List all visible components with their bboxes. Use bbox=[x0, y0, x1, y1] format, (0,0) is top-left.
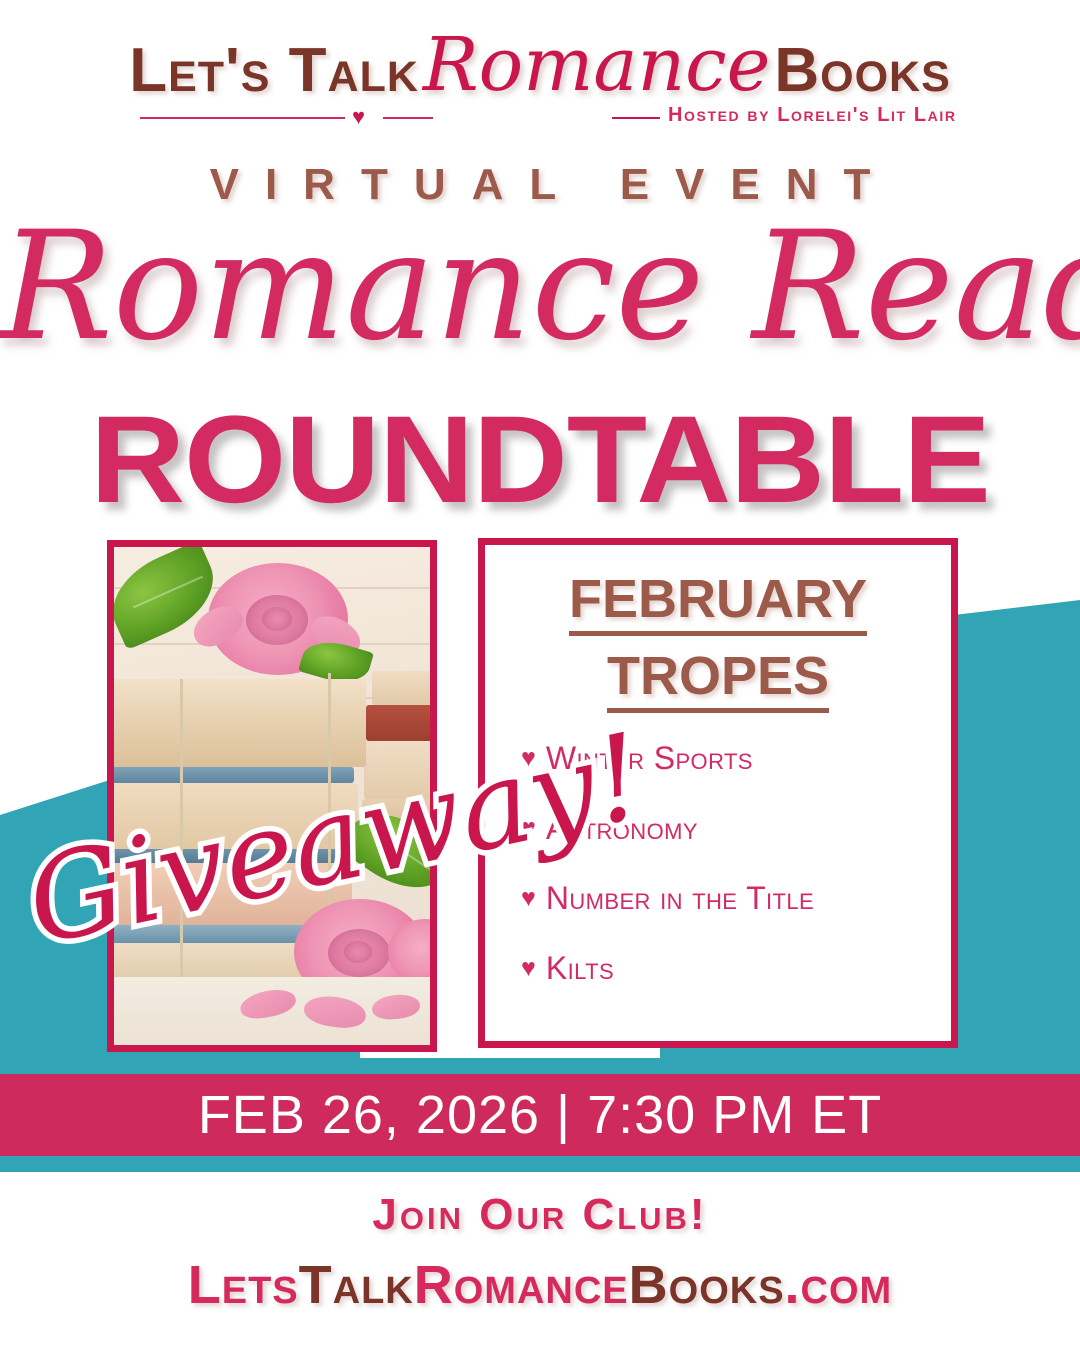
logo-books: Books bbox=[774, 36, 950, 105]
event-datetime-text: FEB 26, 2026 | 7:30 PM ET bbox=[198, 1084, 882, 1146]
tropes-heading-line1: FEBRUARY bbox=[569, 569, 867, 636]
url-part-talk: Talk bbox=[299, 1255, 414, 1315]
list-item: ♥ Number in the Title bbox=[521, 880, 951, 917]
footer: Join Our Club! LetsTalkRomanceBooks.com bbox=[0, 1190, 1080, 1316]
url-part-lets: Lets bbox=[188, 1255, 299, 1315]
heart-icon: ♥ bbox=[352, 106, 365, 128]
list-item: ♥ Kilts bbox=[521, 950, 951, 987]
trope-label: Number in the Title bbox=[546, 880, 814, 917]
tropes-heading: FEBRUARY TROPES bbox=[485, 545, 951, 714]
divider-rule-short bbox=[383, 117, 433, 119]
page-title: ROUNDTABLE bbox=[0, 398, 1080, 522]
url-part-romance: Romance bbox=[414, 1255, 629, 1315]
trope-label: Kilts bbox=[546, 950, 614, 987]
logo-lets-talk: Let's Talk bbox=[129, 36, 419, 105]
logo-divider: ♥ Hosted by Lorelei's Lit Lair bbox=[0, 104, 1080, 130]
hosted-by-text: Hosted by Lorelei's Lit Lair bbox=[668, 104, 957, 127]
logo-romance-script: Romance bbox=[423, 22, 770, 108]
website-url[interactable]: LetsTalkRomanceBooks.com bbox=[0, 1254, 1080, 1316]
event-flyer: Let's TalkRomanceBooks ♥ Hosted by Lorel… bbox=[0, 0, 1080, 1350]
tropes-heading-line2: TROPES bbox=[607, 646, 829, 713]
url-part-books: Books bbox=[629, 1255, 785, 1315]
teal-strip-top bbox=[0, 1058, 1080, 1074]
url-part-tld: .com bbox=[785, 1255, 893, 1315]
divider-rule-right bbox=[612, 117, 660, 119]
event-datetime-banner: FEB 26, 2026 | 7:30 PM ET bbox=[0, 1074, 1080, 1156]
teal-strip-bottom bbox=[0, 1156, 1080, 1172]
divider-rule-long bbox=[140, 117, 345, 119]
heart-bullet-icon: ♥ bbox=[521, 956, 536, 981]
join-club-cta: Join Our Club! bbox=[0, 1190, 1080, 1240]
brand-logo: Let's TalkRomanceBooks ♥ Hosted by Lorel… bbox=[0, 34, 1080, 130]
heart-bullet-icon: ♥ bbox=[521, 886, 536, 911]
script-title: Romance Reader bbox=[0, 212, 1080, 362]
logo-wordmark: Let's TalkRomanceBooks bbox=[129, 34, 951, 108]
